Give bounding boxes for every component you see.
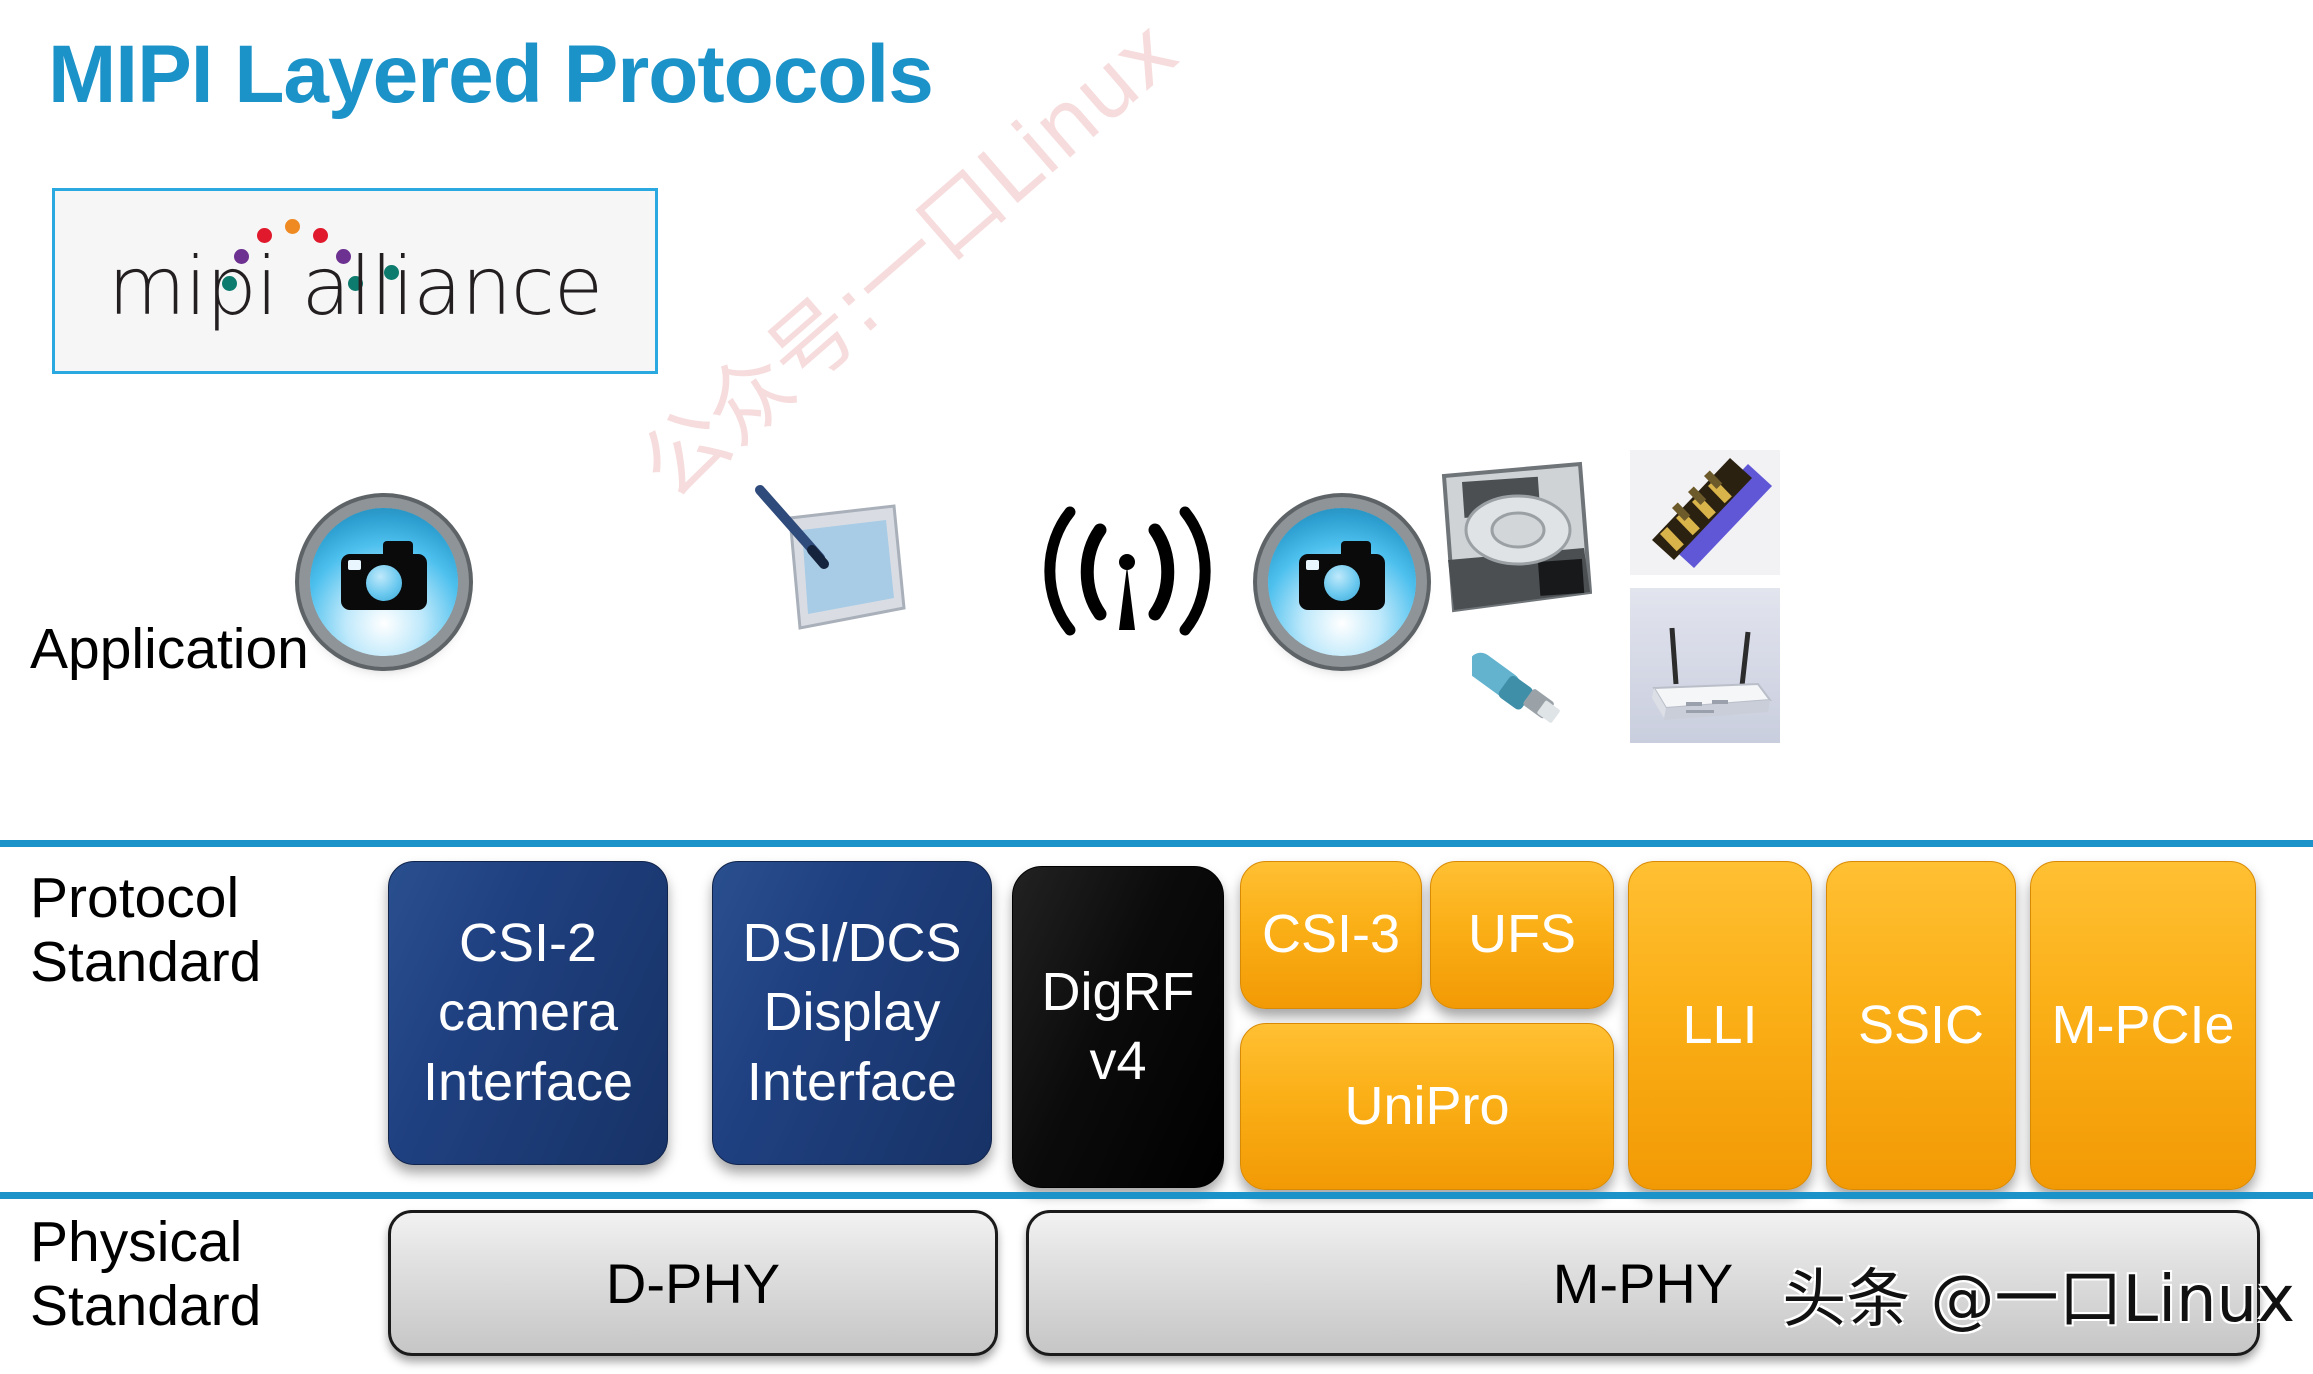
protocol-box-lli[interactable]: LLI: [1628, 861, 1812, 1190]
physical-box-mphy[interactable]: M-PHY: [1026, 1210, 2260, 1356]
protocol-standard-row: CSI-2 camera Interface DSI/DCS Display I…: [0, 848, 2313, 1192]
wifi-router-icon: [1630, 588, 1780, 743]
memory-module-icon: [1630, 450, 1780, 575]
protocol-box-digrf[interactable]: DigRF v4: [1012, 866, 1224, 1188]
application-icon-strip: [0, 460, 2313, 840]
mipi-alliance-logo: mipi alliance: [52, 188, 658, 374]
usb-flash-drive-icon: [1472, 630, 1582, 730]
protocol-box-ssic[interactable]: SSIC: [1826, 861, 2016, 1190]
physical-box-dphy[interactable]: D-PHY: [388, 1210, 998, 1356]
logo-wordmark: mipi alliance: [100, 247, 610, 327]
protocol-box-ufs[interactable]: UFS: [1430, 861, 1614, 1009]
hard-drive-icon: [1432, 454, 1592, 629]
physical-standard-row: D-PHY M-PHY: [0, 1203, 2313, 1374]
protocol-box-csi2[interactable]: CSI-2 camera Interface: [388, 861, 668, 1165]
stylus-tablet-icon: [742, 480, 912, 650]
camera-icon: [310, 508, 458, 656]
camera-icon-2: [1268, 508, 1416, 656]
page-title: MIPI Layered Protocols: [48, 28, 933, 122]
divider-protocol-physical: [0, 1192, 2313, 1199]
slide-canvas: MIPI Layered Protocols mipi alliance 公众号…: [0, 0, 2313, 1374]
protocol-box-mpcie[interactable]: M-PCIe: [2030, 861, 2256, 1190]
protocol-box-unipro[interactable]: UniPro: [1240, 1023, 1614, 1190]
logo-inner: mipi alliance: [100, 219, 610, 344]
protocol-box-csi3[interactable]: CSI-3: [1240, 861, 1422, 1009]
rf-antenna-icon: [1040, 488, 1215, 643]
protocol-box-dsidcs[interactable]: DSI/DCS Display Interface: [712, 861, 992, 1165]
divider-application-protocol: [0, 840, 2313, 847]
